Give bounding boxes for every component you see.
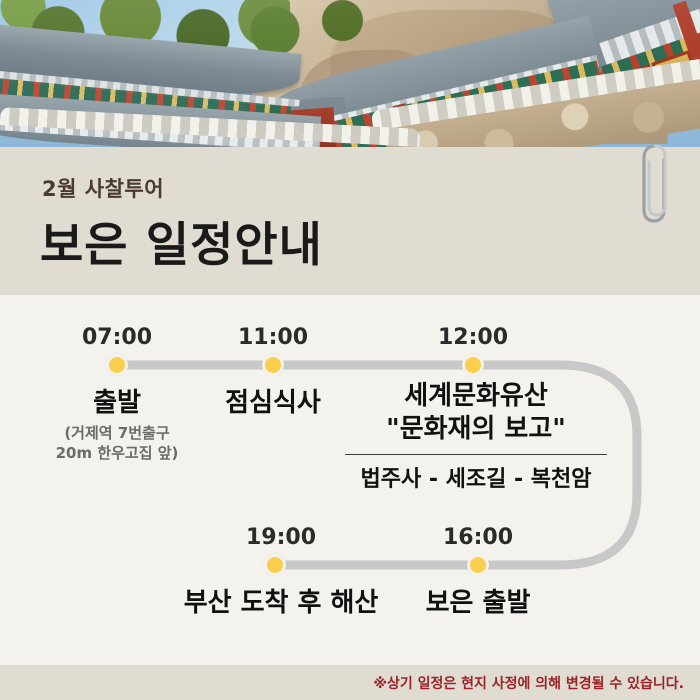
departure-note-line-1: (거제역 7번출구 [56, 423, 179, 443]
heritage-divider [345, 454, 607, 455]
timeline-dot-1900 [264, 554, 286, 576]
departure-note-line-2: 20m 한우고집 앞) [56, 443, 179, 463]
timeline-dot-0700 [106, 354, 128, 376]
timeline-time-1900: 19:00 [246, 525, 316, 550]
timeline-dot-1200 [462, 354, 484, 376]
timeline: 07:00 출발 (거제역 7번출구 20m 한우고집 앞) 11:00 점심식… [0, 295, 700, 665]
timeline-dot-1600 [467, 554, 489, 576]
timeline-dot-1100 [262, 354, 284, 376]
kicker-text: 2월 사찰투어 [42, 173, 164, 203]
timeline-label-lunch: 점심식사 [225, 382, 321, 419]
temple-photo [0, 0, 700, 147]
paperclip-icon [640, 140, 670, 228]
timeline-time-1200: 12:00 [438, 325, 508, 350]
heritage-line-2: "문화재의 보고" [345, 413, 607, 446]
timeline-time-1600: 16:00 [443, 525, 513, 550]
photo-illustration [0, 0, 700, 147]
heritage-line-1: 세계문화유산 [345, 380, 607, 413]
poster-canvas: 2월 사찰투어 보은 일정안내 07:00 출발 (거제역 7번출구 20m 한… [0, 0, 700, 700]
timeline-label-busan-arrival: 부산 도착 후 해산 [184, 582, 379, 619]
disclaimer-text: ※상기 일정은 현지 사정에 의해 변경될 수 있습니다. [373, 673, 684, 693]
timeline-highlight-heritage: 세계문화유산 "문화재의 보고" 법주사 - 세조길 - 복천암 [345, 380, 607, 493]
timeline-label-departure: 출발 [93, 382, 141, 419]
photo-overlay [0, 0, 700, 147]
timeline-label-boeun-departure: 보은 출발 [426, 582, 531, 619]
page-title: 보은 일정안내 [40, 206, 323, 275]
timeline-time-0700: 07:00 [82, 325, 152, 350]
heritage-sub: 법주사 - 세조길 - 복천암 [345, 461, 607, 493]
timeline-note-departure: (거제역 7번출구 20m 한우고집 앞) [56, 423, 179, 464]
timeline-time-1100: 11:00 [238, 325, 308, 350]
